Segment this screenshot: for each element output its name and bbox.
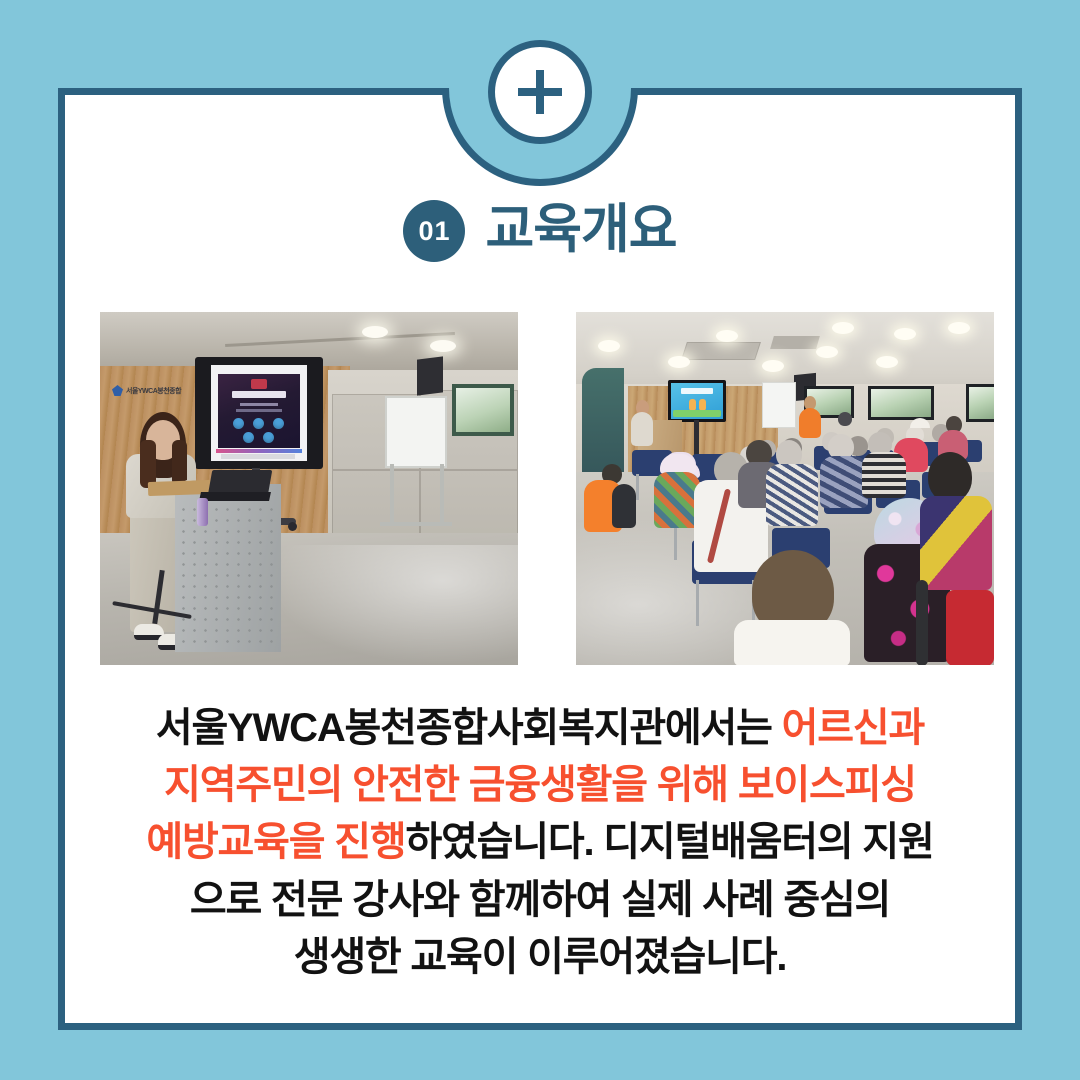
slide-icon: [273, 418, 284, 429]
ceiling-vent: [770, 336, 820, 349]
slide-subtitle-bar: [240, 403, 278, 406]
plus-badge: [488, 40, 592, 144]
copy-line: 으로 전문 강사와 함께하여 실제 사례 중심의: [93, 872, 987, 929]
slide-icon: [263, 432, 274, 443]
attendee-head: [838, 412, 852, 426]
wheelchair-frame: [916, 580, 928, 665]
body-copy: 서울YWCA봉천종합사회복지관에서는 어르신과 지역주민의 안전한 금융생활을 …: [93, 700, 987, 986]
caster-wheel: [288, 522, 297, 531]
slide-content: [218, 374, 300, 448]
wall-speaker: [417, 356, 443, 395]
copy-segment: 하였습니다. 디지털배움터의 지원: [405, 820, 933, 864]
copy-segment-highlighted: 어르신과: [782, 706, 924, 750]
presenter-body: [631, 412, 653, 446]
window: [966, 384, 994, 422]
ceiling-vent: [681, 342, 761, 360]
slide-footer-logos: [221, 454, 295, 459]
ceiling-light-icon: [362, 326, 388, 338]
ceiling-light-icon: [762, 360, 784, 372]
copy-segment: 서울YWCA봉천종합사회복지관에서는: [156, 706, 782, 750]
ceiling-light-icon: [832, 322, 854, 334]
presentation-display: [195, 357, 323, 469]
chair-leg: [696, 580, 699, 626]
whiteboard: [762, 382, 796, 428]
copy-line: 서울YWCA봉천종합사회복지관에서는 어르신과: [93, 700, 987, 757]
copy-segment: 으로 전문 강사와 함께하여 실제 사례 중심의: [190, 878, 890, 922]
venue-sign-label: 서울YWCA봉천종합: [126, 386, 181, 396]
laptop-keyboard: [199, 492, 271, 501]
slide-title-bar: [681, 388, 713, 394]
wheelchair: [946, 590, 994, 665]
ceiling-light-icon: [948, 322, 970, 334]
slide-title-bar: [232, 391, 286, 398]
ceiling-light-icon: [430, 340, 456, 352]
ceiling-light-icon: [598, 340, 620, 352]
wall-panel: [332, 470, 420, 542]
window: [452, 384, 514, 436]
copy-segment-highlighted: 예방교육을 진행: [146, 820, 405, 864]
attendee-body: [862, 452, 906, 498]
whiteboard-leg: [390, 464, 394, 526]
slide-icon: [253, 418, 264, 429]
ceiling-light-icon: [894, 328, 916, 340]
content-card: 01 교육개요 서울YWCA봉천종합: [58, 88, 1022, 1030]
section-heading: 01 교육개요: [65, 200, 1015, 262]
copy-segment-highlighted: 지역주민의 안전한 금융생활을 위해 보이스피싱: [164, 763, 916, 807]
page-title: 교육개요: [485, 203, 676, 260]
attendee-body: [766, 464, 818, 526]
whiteboard-base: [380, 522, 452, 526]
chair-leg: [636, 474, 639, 500]
slide-ground: [673, 410, 721, 417]
copy-line: 예방교육을 진행하였습니다. 디지털배움터의 지원: [93, 814, 987, 871]
staff-vest: [799, 408, 821, 438]
attendee-body: [734, 620, 850, 665]
lecturer-at-podium-photo: 서울YWCA봉천종합: [100, 312, 518, 665]
display-screen: [671, 383, 723, 419]
water-bottle: [197, 498, 208, 526]
display-screen: [211, 365, 307, 461]
floor-reflection: [267, 545, 518, 665]
slide-url-text: [216, 449, 302, 453]
whiteboard-leg: [440, 464, 444, 526]
ceiling-light-icon: [668, 356, 690, 368]
senior-audience-photo: [576, 312, 994, 665]
presentation-display: [668, 380, 726, 422]
green-wall-column: [582, 368, 624, 480]
attendee-body: [820, 456, 868, 508]
window: [868, 386, 934, 420]
ceiling-light-icon: [716, 330, 738, 342]
slide-subtitle-bar: [236, 409, 282, 412]
slide-icon: [233, 418, 244, 429]
slide-icon: [243, 432, 254, 443]
plus-icon: [514, 66, 566, 118]
chair-leg: [674, 526, 677, 560]
presenter-hair-strand: [172, 440, 187, 486]
photo-row: 서울YWCA봉천종합: [100, 312, 994, 665]
staff-sleeve: [612, 484, 636, 528]
wall-panel: [420, 470, 518, 542]
copy-segment: 생생한 교육이 이루어졌습니다.: [294, 935, 787, 979]
venue-sign: 서울YWCA봉천종합: [112, 384, 198, 397]
step-number-badge: 01: [403, 200, 465, 262]
copy-line: 생생한 교육이 이루어졌습니다.: [93, 929, 987, 986]
display-stand-pole: [694, 420, 699, 456]
attendee-hat: [660, 454, 696, 472]
copy-line: 지역주민의 안전한 금융생활을 위해 보이스피싱: [93, 757, 987, 814]
podium-perforation: [178, 504, 276, 644]
ceiling-light-icon: [816, 346, 838, 358]
ceiling-light-icon: [876, 356, 898, 368]
slide-logo-icon: [251, 379, 267, 389]
attendee-body: [920, 496, 992, 590]
whiteboard: [385, 396, 447, 468]
attendee-head: [928, 452, 972, 502]
ywca-logo-icon: [112, 385, 123, 396]
presenter-hair-strand: [140, 440, 156, 488]
